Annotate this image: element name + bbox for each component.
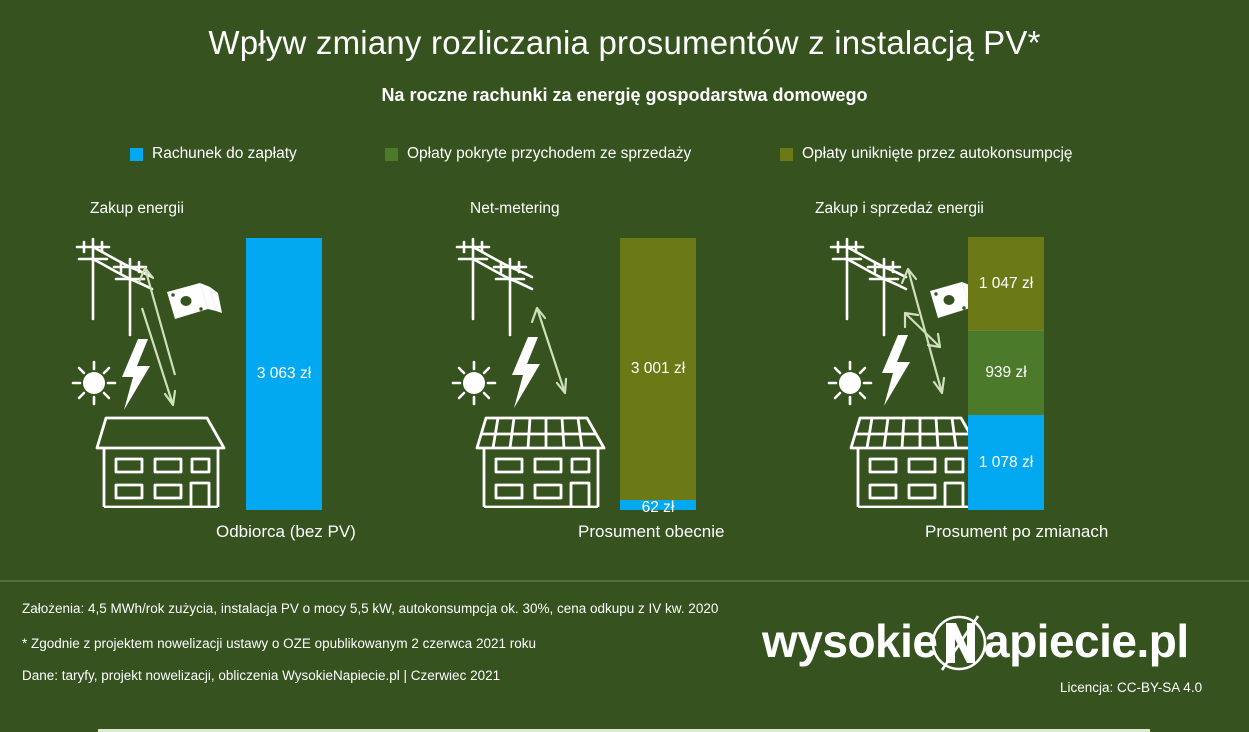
bar-prosument-po-zmianach: 1 047 zł 939 zł 1 078 zł xyxy=(968,237,1044,510)
lightning-icon xyxy=(122,339,150,410)
infographic-canvas: Wpływ zmiany rozliczania prosumentów z i… xyxy=(0,0,1249,715)
bar-segment-label: 3 001 zł xyxy=(631,360,685,378)
bar-segment-label: 1 078 zł xyxy=(979,454,1033,472)
illustration-grid-house-money xyxy=(60,225,250,508)
bar-segment-covered-by-sales: 939 zł xyxy=(968,330,1044,415)
wysokienapiecie-logo: wysokie apiecie.pl xyxy=(762,612,1232,674)
x-axis-label-1: Odbiorca (bez PV) xyxy=(216,522,356,542)
bar-prosument-obecnie: 3 001 zł 62 zł xyxy=(620,238,696,510)
legend-label-covered-by-sales: Opłaty pokryte przychodem ze sprzedaży xyxy=(407,145,691,163)
x-axis-label-2: Prosument obecnie xyxy=(578,522,724,542)
bar-segment-label: 939 zł xyxy=(985,364,1026,382)
license-text: Licencja: CC-BY-SA 4.0 xyxy=(1060,680,1202,695)
legend-label-bill: Rachunek do zapłaty xyxy=(152,145,297,163)
bar-group-prosument-po-zmianach: 1 047 zł 939 zł 1 078 zł xyxy=(820,225,1140,510)
column-caption-3: Zakup i sprzedaż energii xyxy=(815,200,984,218)
money-icon xyxy=(167,283,222,319)
lightning-n-icon xyxy=(928,614,990,672)
sun-icon xyxy=(829,362,871,404)
bar-segment-bill: 3 063 zł xyxy=(246,238,322,510)
legend-item-bill: Rachunek do zapłaty xyxy=(130,145,297,163)
bar-segment-label: 1 047 zł xyxy=(979,275,1033,293)
solar-house-icon xyxy=(477,418,604,507)
footer-divider xyxy=(0,580,1249,582)
legend-swatch-avoided-selfconsumption xyxy=(780,148,793,161)
column-caption-1: Zakup energii xyxy=(90,200,184,218)
legend-label-avoided-selfconsumption: Opłaty uniknięte przez autokonsumpcję xyxy=(802,145,1073,163)
bar-segment-bill: 1 078 zł xyxy=(968,415,1044,510)
footnote-asterisk: * Zgodnie z projektem nowelizacji ustawy… xyxy=(22,636,536,651)
legend-item-avoided-selfconsumption: Opłaty uniknięte przez autokonsumpcję xyxy=(780,145,1073,163)
lightning-icon xyxy=(882,335,910,406)
page-subtitle: Na roczne rachunki za energię gospodarst… xyxy=(0,85,1249,106)
bar-segment-avoided-selfconsumption: 1 047 zł xyxy=(968,237,1044,330)
logo-suffix: apiecie.pl xyxy=(984,612,1189,670)
chart-legend: Rachunek do zapłaty Opłaty pokryte przyc… xyxy=(130,145,1130,167)
sun-icon xyxy=(453,362,495,404)
bar-segment-avoided-selfconsumption: 3 001 zł xyxy=(620,238,696,500)
lightning-icon xyxy=(512,337,540,408)
bar-group-prosument-obecnie: 3 001 zł 62 zł xyxy=(440,225,760,510)
bar-group-odbiorca: 3 063 zł xyxy=(60,225,390,510)
footnote-source: Dane: taryfy, projekt nowelizacji, oblic… xyxy=(22,668,500,683)
solar-house-icon xyxy=(851,418,978,507)
bar-segment-label: 3 063 zł xyxy=(257,365,311,383)
logo-prefix: wysokie xyxy=(762,612,938,670)
chart-plot-area: 3 063 zł xyxy=(0,225,1249,510)
footnote-assumptions: Założenia: 4,5 MWh/rok zużycia, instalac… xyxy=(22,601,718,616)
house-icon xyxy=(97,418,224,507)
page-title: Wpływ zmiany rozliczania prosumentów z i… xyxy=(0,24,1249,62)
bar-odbiorca: 3 063 zł xyxy=(246,238,322,510)
legend-swatch-covered-by-sales xyxy=(385,148,398,161)
legend-swatch-bill xyxy=(130,148,143,161)
bar-segment-bill: 62 zł xyxy=(620,500,696,510)
legend-item-covered-by-sales: Opłaty pokryte przychodem ze sprzedaży xyxy=(385,145,691,163)
x-axis-label-3: Prosument po zmianach xyxy=(925,522,1108,542)
sun-icon xyxy=(73,362,115,404)
illustration-grid-solar-house xyxy=(440,225,615,508)
column-caption-2: Net-metering xyxy=(470,200,560,218)
bar-segment-label: 62 zł xyxy=(642,499,675,517)
x-axis-labels: Odbiorca (bez PV) Prosument obecnie Pros… xyxy=(0,522,1249,546)
